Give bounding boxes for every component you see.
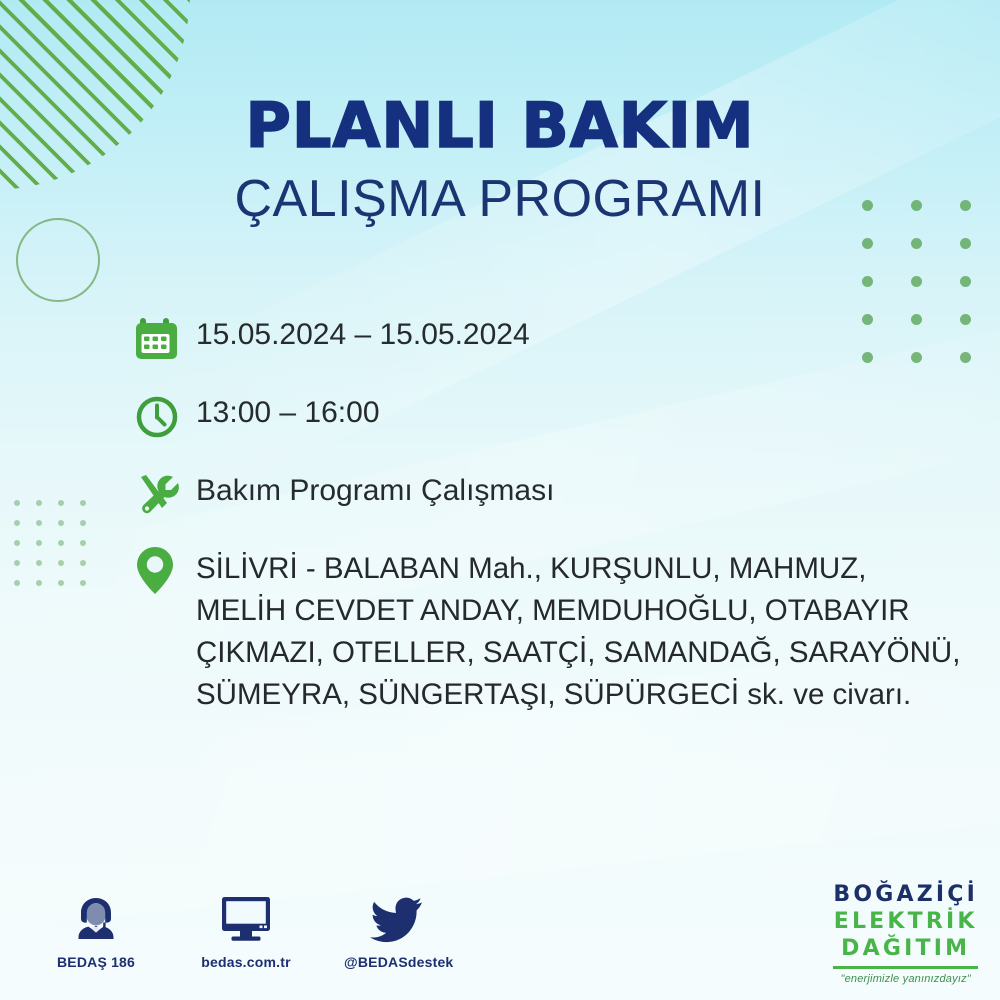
address-text: SİLİVRİ - BALABAN Mah., KURŞUNLU, MAHMUZ…: [196, 546, 960, 716]
title-secondary: ÇALIŞMA PROGRAMI: [0, 173, 1000, 225]
footer-contacts: BEDAŞ 186 bedas.com.tr: [44, 888, 448, 970]
date-range-text: 15.05.2024 – 15.05.2024: [196, 312, 530, 351]
address-line: MELİH CEVDET ANDAY, MEMDUHOĞLU, OTABAYIR: [196, 590, 960, 632]
contact-phone[interactable]: BEDAŞ 186: [44, 888, 148, 970]
contact-website-label: bedas.com.tr: [194, 954, 298, 970]
support-agent-icon: [44, 888, 148, 944]
circle-outline-decoration: [16, 218, 100, 302]
logo-divider: [833, 966, 978, 969]
bedas-logo: BOĞAZİÇİ ELEKTRİK DAĞITIM "enerjimizle y…: [833, 884, 978, 985]
info-row-date: 15.05.2024 – 15.05.2024: [134, 312, 964, 366]
twitter-bird-icon: [344, 888, 448, 944]
page-title: PLANLI BAKIM ÇALIŞMA PROGRAMI: [0, 95, 1000, 225]
address-line: SÜMEYRA, SÜNGERTAŞI, SÜPÜRGECİ sk. ve ci…: [196, 674, 960, 716]
title-primary: PLANLI BAKIM: [0, 95, 1000, 157]
info-row-time: 13:00 – 16:00: [134, 390, 964, 444]
contact-phone-label: BEDAŞ 186: [44, 954, 148, 970]
map-pin-icon: [134, 546, 196, 596]
contact-website[interactable]: bedas.com.tr: [194, 888, 298, 970]
tools-icon: [134, 468, 196, 522]
info-row-location: SİLİVRİ - BALABAN Mah., KURŞUNLU, MAHMUZ…: [134, 546, 964, 716]
address-line: ÇIKMAZI, OTELLER, SAATÇİ, SAMANDAĞ, SARA…: [196, 632, 960, 674]
contact-twitter[interactable]: @BEDASdestek: [344, 888, 448, 970]
time-range-text: 13:00 – 16:00: [196, 390, 380, 429]
calendar-icon: [134, 312, 196, 366]
logo-line-bogazici: BOĞAZİÇİ: [833, 884, 978, 906]
work-type-text: Bakım Programı Çalışması: [196, 468, 554, 507]
info-row-work-type: Bakım Programı Çalışması: [134, 468, 964, 522]
logo-line-elektrik: ELEKTRİK: [833, 911, 978, 933]
clock-icon: [134, 390, 196, 444]
dot-grid-decoration-left: [14, 500, 102, 600]
planned-maintenance-poster: PLANLI BAKIM ÇALIŞMA PROGRAMI: [0, 0, 1000, 1000]
monitor-icon: [194, 888, 298, 944]
logo-line-dagitim: DAĞITIM: [833, 938, 978, 960]
info-rows: 15.05.2024 – 15.05.2024 13:00 – 16:00: [134, 312, 964, 716]
logo-tagline: "enerjimizle yanınızdayız": [833, 974, 978, 985]
address-line: SİLİVRİ - BALABAN Mah., KURŞUNLU, MAHMUZ…: [196, 548, 960, 590]
contact-twitter-label: @BEDASdestek: [344, 954, 448, 970]
